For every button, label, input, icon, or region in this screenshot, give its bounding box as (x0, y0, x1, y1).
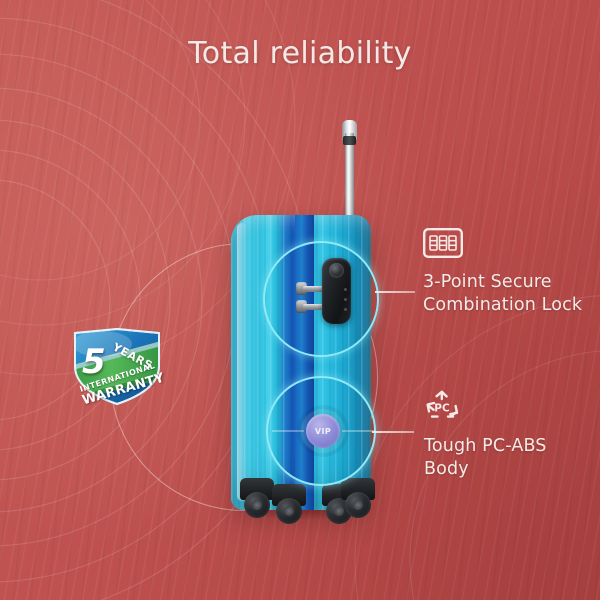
callout-leader-lock (375, 291, 415, 293)
callout-lock-line2: Combination Lock (423, 294, 582, 317)
recycle-icon-label: PC (434, 403, 450, 415)
lock-dial (329, 263, 344, 278)
badge-number: 5 (82, 342, 106, 382)
callout-body: PC Tough PC-ABS Body (424, 390, 547, 481)
combination-lock (322, 258, 351, 324)
handle-collar (343, 136, 356, 145)
vip-logo-text: VIP (315, 427, 331, 436)
recycle-pc-icon: PC (424, 390, 547, 426)
body-groove (342, 430, 374, 432)
zipper-band (295, 215, 314, 510)
warranty-badge: 5 YEARS INTERNATIONAL WARRANTY (68, 328, 166, 406)
callout-leader-body (372, 431, 414, 433)
vip-logo-emblem: VIP (306, 414, 340, 448)
callout-lock-line1: 3-Point Secure (423, 271, 582, 294)
shell-highlight (237, 223, 247, 501)
body-groove (272, 430, 304, 432)
promo-banner: Total reliability (0, 0, 600, 600)
combination-lock-icon (423, 228, 582, 262)
callout-body-line2: Body (424, 458, 547, 481)
callout-lock: 3-Point Secure Combination Lock (423, 228, 582, 317)
suitcase-shell (231, 215, 371, 510)
callout-body-line1: Tough PC-ABS (424, 435, 547, 458)
